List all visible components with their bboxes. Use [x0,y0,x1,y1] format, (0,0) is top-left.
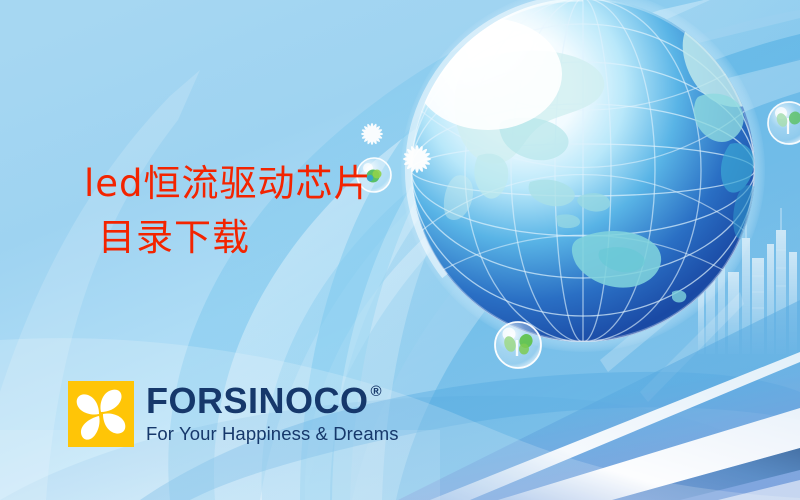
forsinoco-pinwheel-mark [68,381,134,447]
pinwheel-petals-icon [68,381,134,447]
logo-tagline: For Your Happiness & Dreams [146,423,399,445]
company-logo[interactable]: FORSINOCO ® For Your Happiness & Dreams [68,381,399,447]
globe-landmasses [444,6,779,303]
promo-banner: led恒流驱动芯片 目录下载 FORSINOCO ® For Your Happ… [0,0,800,500]
diagonal-swoosh-ribbons [398,300,800,500]
registered-trademark-symbol: ® [371,384,382,399]
white-flower-burst [403,145,431,173]
bubble-leaf-icon [768,102,800,144]
logo-wordmark: FORSINOCO [146,383,369,419]
headline-line-1: led恒流驱动芯片 [84,163,372,206]
headline-line-2: 目录下载 [84,217,372,260]
bubble-sprout-icon [495,322,541,368]
city-skyline-silhouette [698,208,797,354]
headline-text: led恒流驱动芯片 目录下载 [84,163,372,260]
logo-text-block: FORSINOCO ® For Your Happiness & Dreams [146,383,399,445]
earth-globe [380,0,779,353]
white-flower-burst [361,123,383,145]
background-blue-field [330,0,800,500]
